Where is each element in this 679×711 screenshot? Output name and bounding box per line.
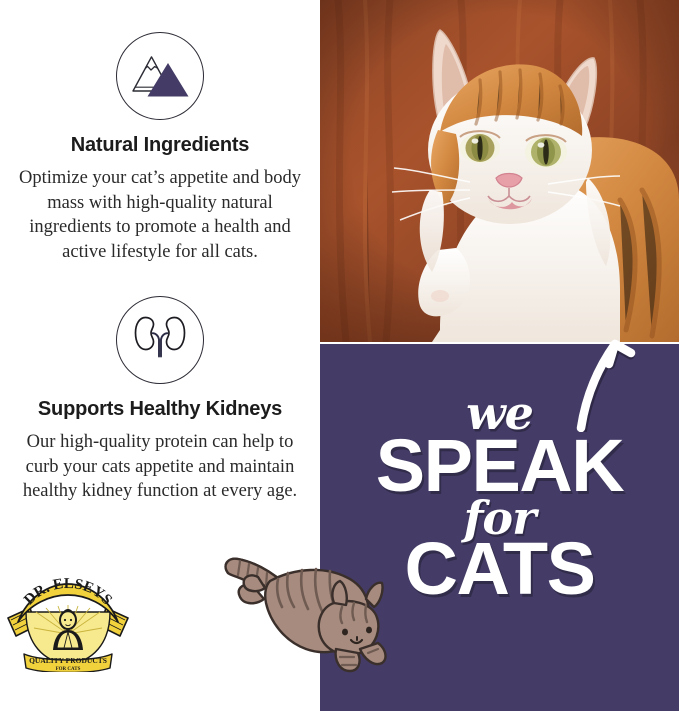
logo-ribbon-text: QUALITY PRODUCTS	[29, 656, 107, 665]
promo-page: Natural Ingredients Optimize your cat’s …	[0, 0, 679, 711]
feature-title: Supports Healthy Kidneys	[0, 398, 320, 421]
logo-ribbon-subtext: FOR CATS	[56, 667, 81, 672]
feature-body: Optimize your cat’s appetite and body ma…	[0, 166, 320, 264]
dr-elseys-logo: DR. ELSEYS QUALITY PRODUCTS FOR CATS	[6, 578, 130, 672]
mountain-icon	[116, 32, 204, 120]
kidneys-icon	[116, 296, 204, 384]
feature-body: Our high-quality protein can help to cur…	[0, 430, 320, 504]
feature-block-natural-ingredients: Natural Ingredients Optimize your cat’s …	[0, 32, 320, 264]
leaping-cat-illustration	[218, 545, 393, 675]
cat-photo	[320, 0, 679, 342]
feature-title: Natural Ingredients	[0, 134, 320, 157]
slogan-word-cats: CATS	[405, 533, 595, 606]
feature-block-healthy-kidneys: Supports Healthy Kidneys Our high-qualit…	[0, 296, 320, 504]
